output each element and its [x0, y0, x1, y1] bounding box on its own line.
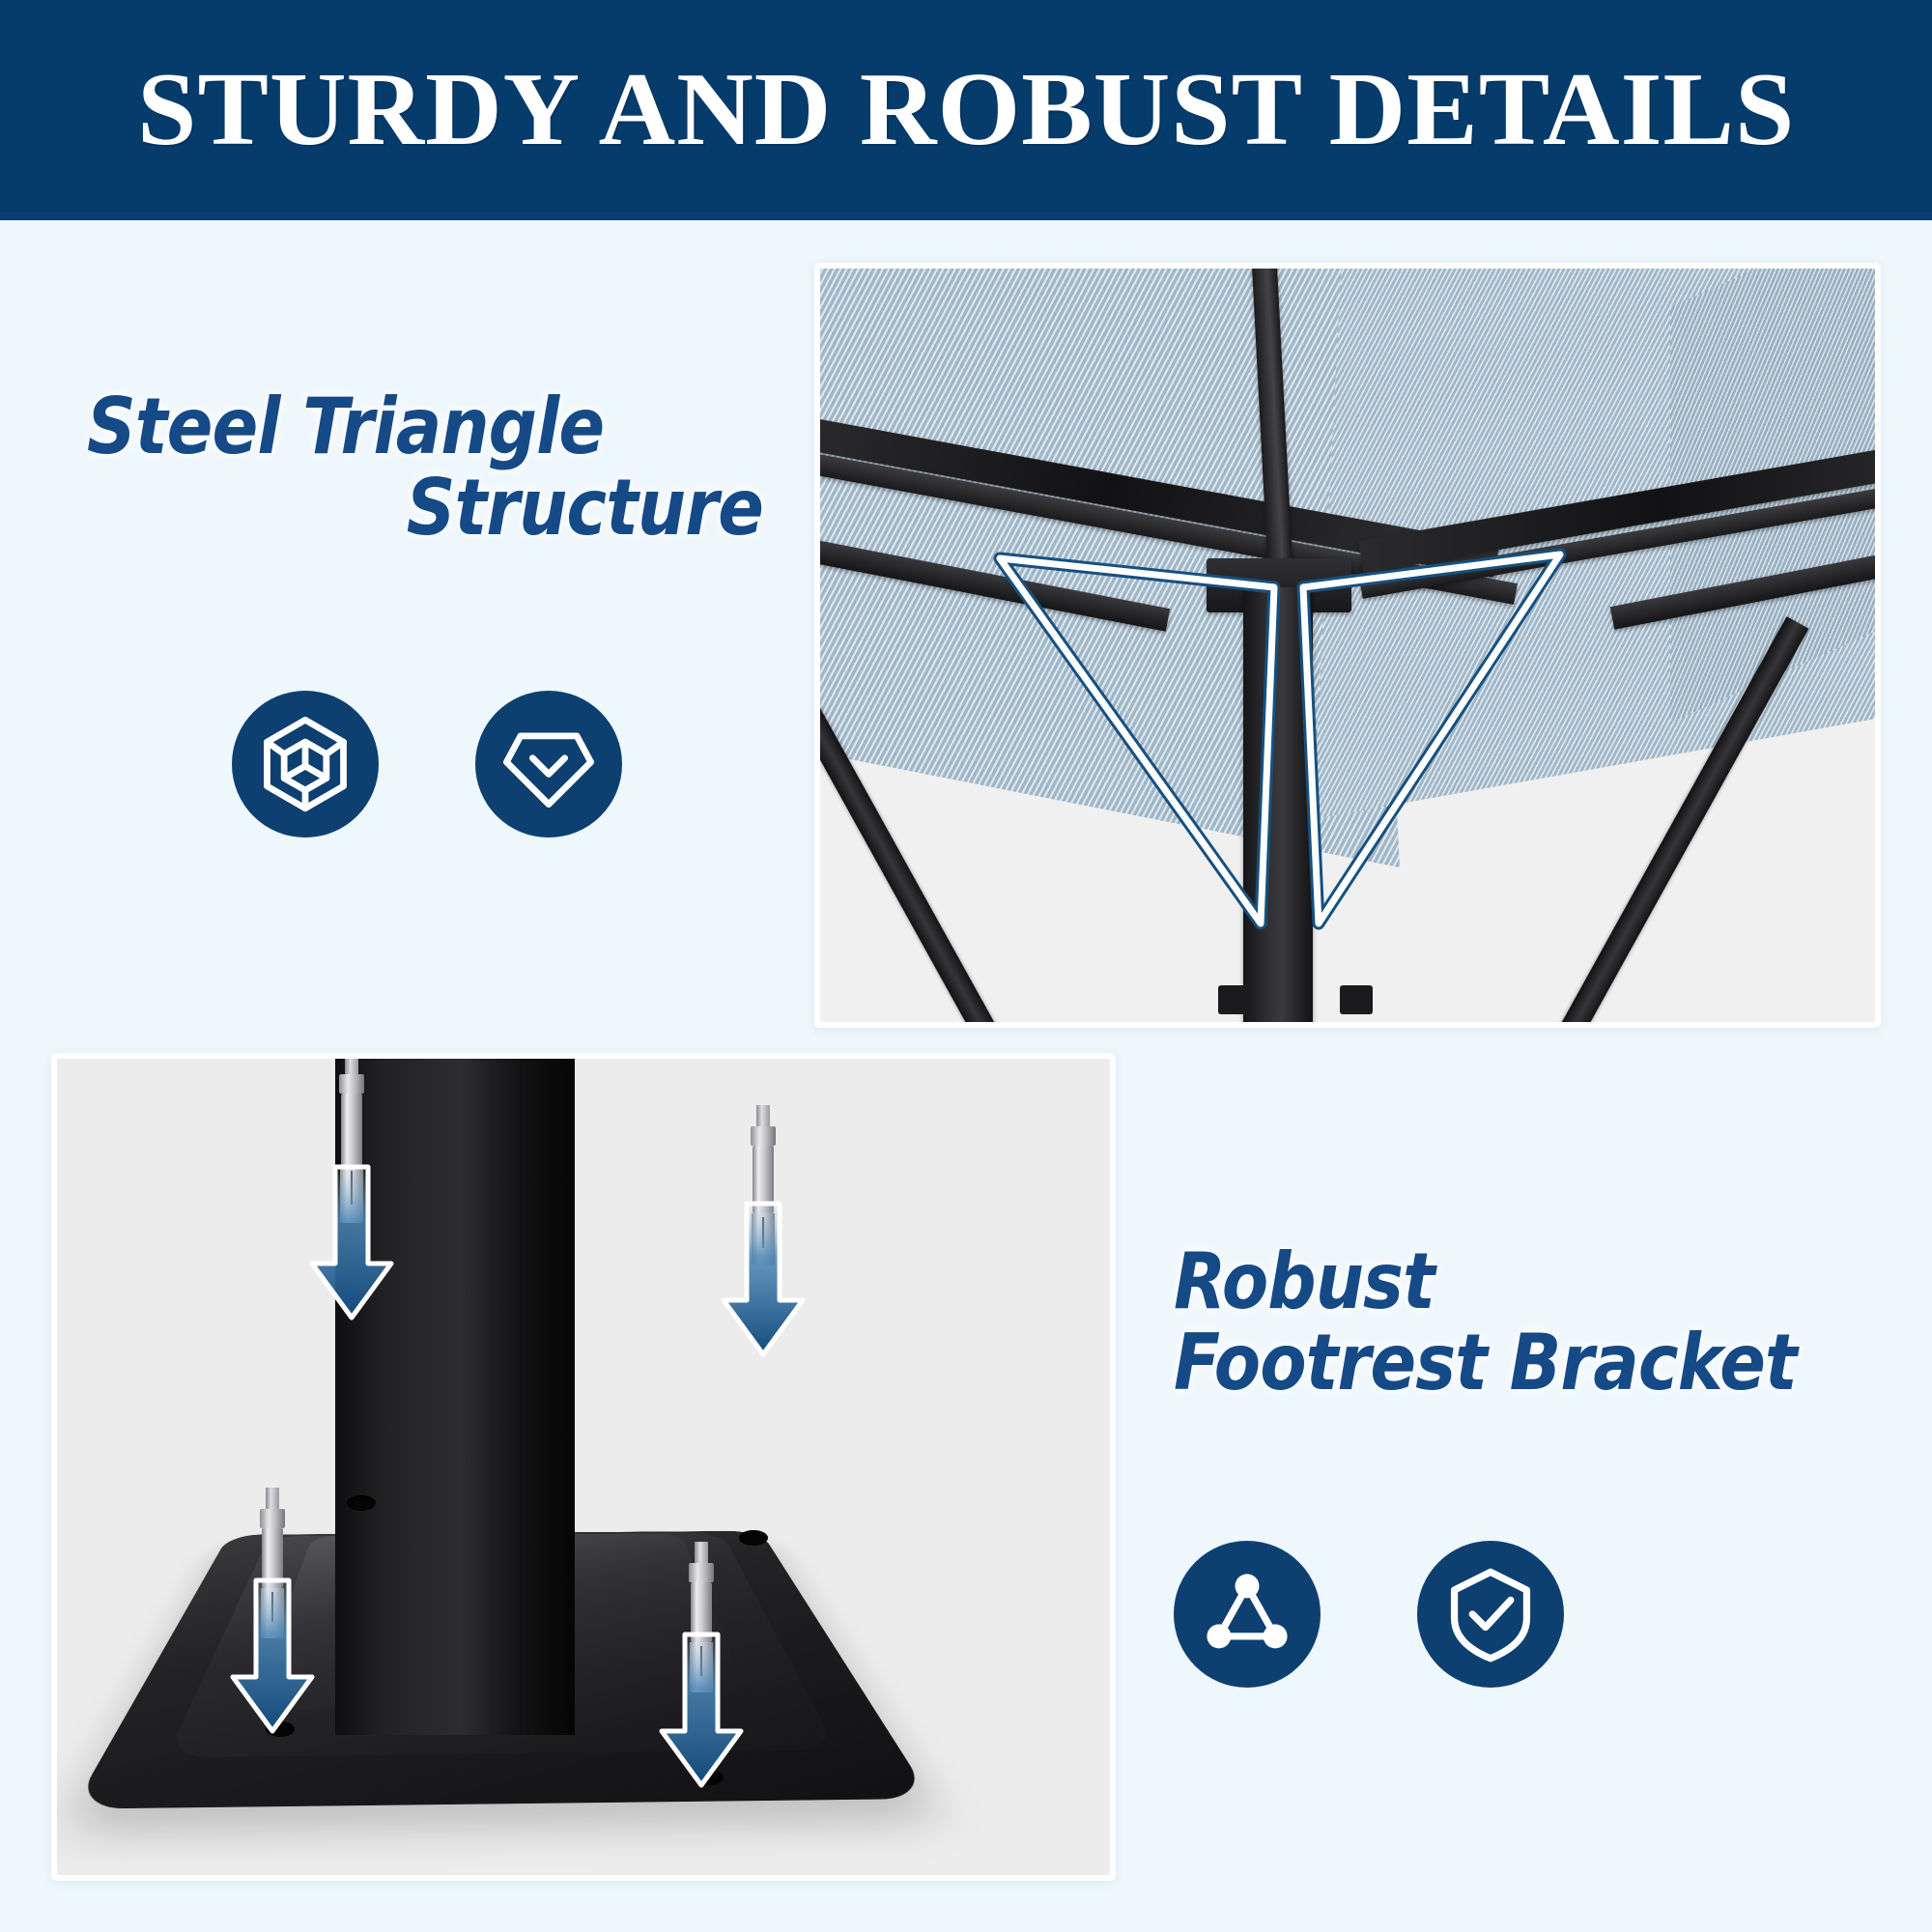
arrow-bottom-left [233, 1580, 312, 1731]
install-arrows [57, 1059, 1110, 1875]
steel-triangle-headline-line1: Steel Triangle [87, 386, 682, 468]
post-base-plate-photo [51, 1053, 1116, 1881]
header-banner: STURDY AND ROBUST DETAILS [0, 0, 1932, 220]
arrow-bottom-right [662, 1634, 741, 1785]
shield-check-icon [1417, 1541, 1564, 1688]
roof-scene [820, 269, 1875, 1022]
cube-hexagon-icon [232, 691, 379, 838]
steel-triangle-text-block: Steel Triangle Structure [87, 386, 763, 549]
gem-check-icon [475, 691, 622, 838]
arrow-top-left [312, 1167, 391, 1318]
steel-triangle-highlight-right [820, 269, 1875, 1022]
page-title: STURDY AND ROBUST DETAILS [137, 58, 1795, 162]
gazebo-roof-corner-photo [814, 263, 1881, 1028]
base-scene [57, 1059, 1110, 1875]
triangle-node-icon [1174, 1541, 1321, 1688]
steel-triangle-icon-row [232, 691, 622, 838]
robust-footrest-headline-line1: Robust [1174, 1241, 1820, 1322]
robust-footrest-text-block: Robust Footrest Bracket [1174, 1241, 1908, 1404]
robust-footrest-icon-row [1174, 1541, 1564, 1688]
steel-triangle-headline-line2: Structure [168, 468, 763, 549]
robust-footrest-headline-line2: Footrest Bracket [1174, 1322, 1820, 1404]
arrow-top-right [724, 1204, 803, 1354]
